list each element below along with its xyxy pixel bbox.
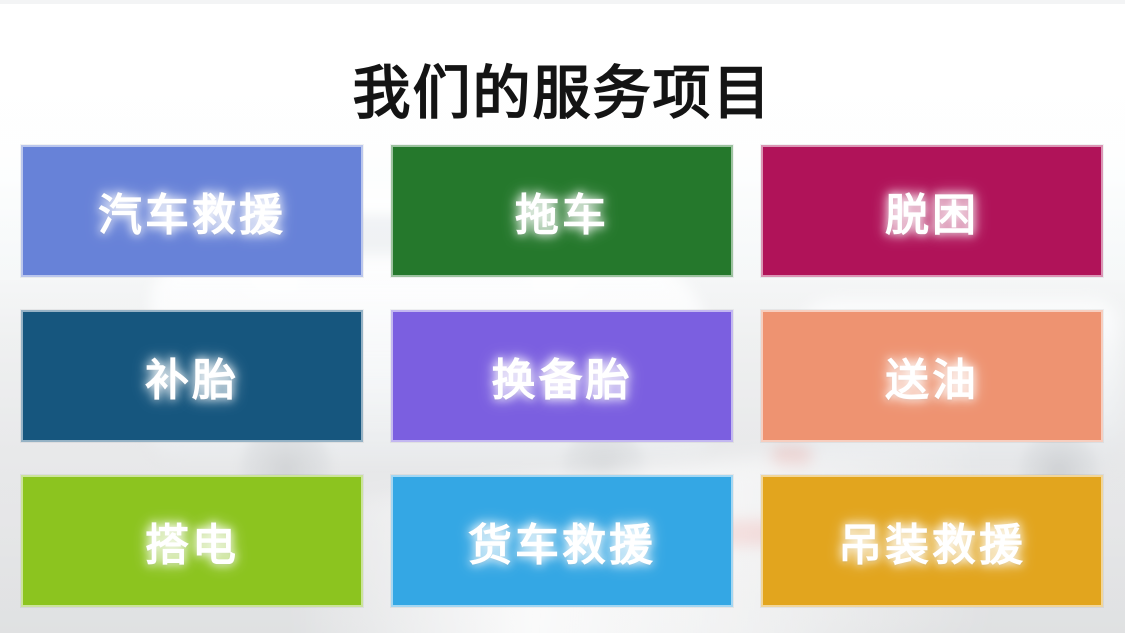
service-poster: 我们的服务项目 汽车救援 拖车 脱困 补胎 换备胎 送油 搭电 货车救援 吊装救… [0,0,1125,633]
service-tile-grid: 汽车救援 拖车 脱困 补胎 换备胎 送油 搭电 货车救援 吊装救援 [21,145,1104,607]
service-tile-tire-repair[interactable]: 补胎 [21,310,363,442]
service-tile-label: 换备胎 [492,344,633,408]
service-tile-label: 吊装救援 [838,509,1026,573]
service-tile-jump-start[interactable]: 搭电 [21,475,363,607]
service-tile-label: 拖车 [515,179,609,243]
service-tile-label: 送油 [885,344,979,408]
background-top-band [0,0,1125,4]
page-title: 我们的服务项目 [0,61,1125,127]
service-tile-crane-rescue[interactable]: 吊装救援 [761,475,1103,607]
service-tile-fuel-delivery[interactable]: 送油 [761,310,1103,442]
service-tile-extraction[interactable]: 脱困 [761,145,1103,277]
service-tile-label: 补胎 [145,344,239,408]
service-tile-truck-rescue[interactable]: 货车救援 [391,475,733,607]
service-tile-car-rescue[interactable]: 汽车救援 [21,145,363,277]
service-tile-label: 搭电 [145,509,239,573]
service-tile-tow-truck[interactable]: 拖车 [391,145,733,277]
service-tile-spare-tire[interactable]: 换备胎 [391,310,733,442]
service-tile-label: 货车救援 [468,509,656,573]
service-tile-label: 汽车救援 [98,179,286,243]
service-tile-label: 脱困 [885,179,979,243]
